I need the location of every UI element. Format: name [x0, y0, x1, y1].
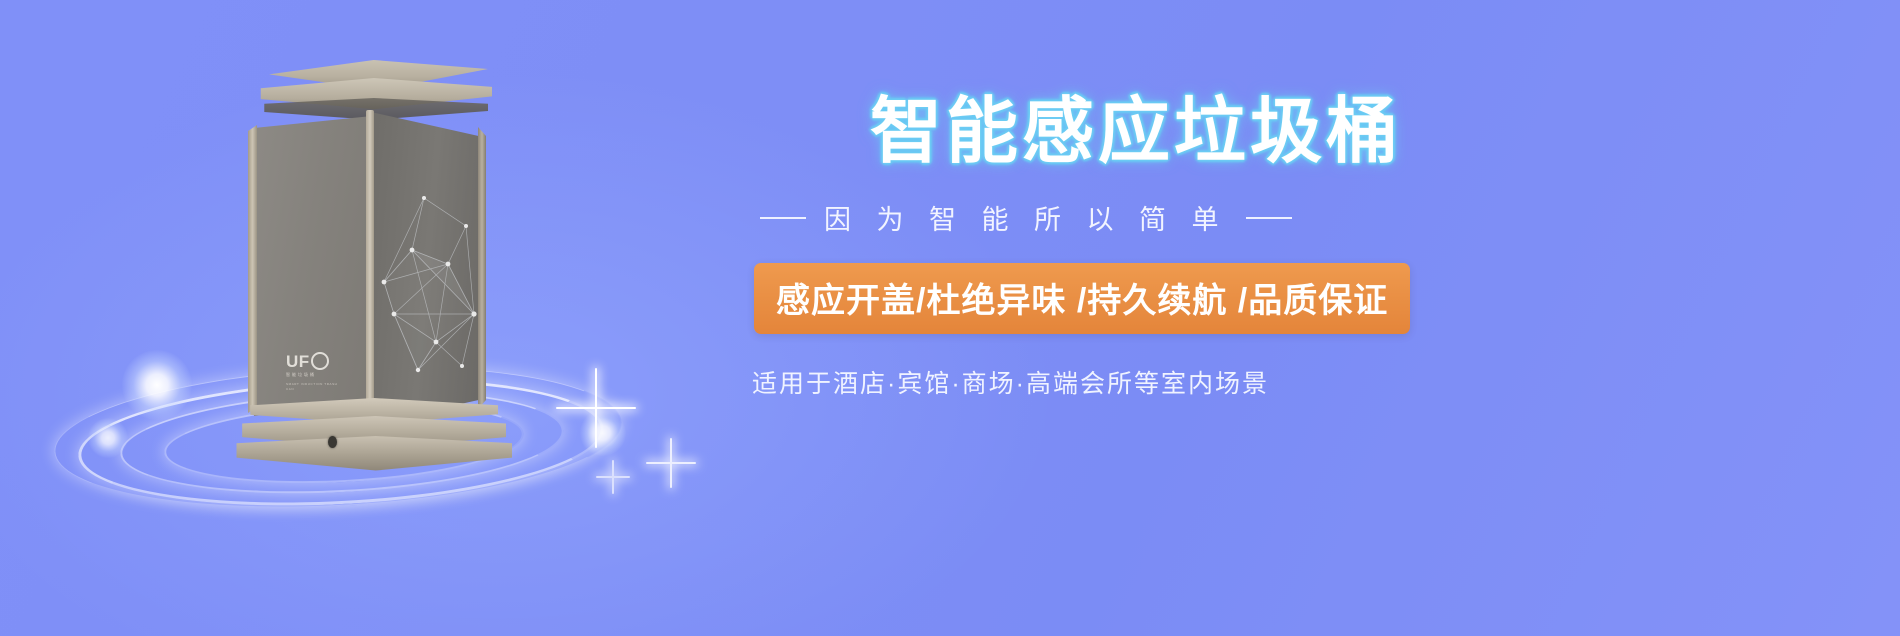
- sensor-icon: [328, 436, 337, 448]
- promo-banner: UF 智能垃圾桶 SMART INDUCTION TRASH CAN 智能感应垃…: [0, 0, 1900, 636]
- sparkle-icon: [596, 460, 630, 494]
- subheadline-text: 因 为 智 能 所 以 简 单: [824, 198, 1228, 237]
- brand-logo-sub: SMART INDUCTION TRASH CAN: [286, 382, 342, 391]
- glow-dot-right: [580, 410, 626, 456]
- brand-logo-cn: 智能垃圾桶: [286, 372, 342, 378]
- headline: 智能感应垃圾桶: [870, 96, 1830, 168]
- sparkle-icon: [646, 438, 696, 488]
- usage-scenarios-text: 适用于酒店·宾馆·商场·高端会所等室内场景: [752, 364, 1830, 400]
- trash-bin-product-image: UF 智能垃圾桶 SMART INDUCTION TRASH CAN: [228, 54, 508, 454]
- polygon-network-graphic: [378, 164, 486, 394]
- brand-logo-letters: UF: [286, 353, 310, 370]
- glow-dot-lower-left: [88, 418, 128, 458]
- glow-dot-left: [122, 350, 192, 420]
- brand-logo-ring-icon: [311, 352, 329, 370]
- bin-edge-left: [248, 116, 257, 416]
- feature-badge: 感应开盖/杜绝异味 /持久续航 /品质保证: [754, 263, 1410, 334]
- subheadline: 因 为 智 能 所 以 简 单: [760, 198, 1830, 237]
- bin-edge-center: [366, 110, 374, 422]
- subheadline-dash-left: [760, 217, 806, 219]
- product-scene: UF 智能垃圾桶 SMART INDUCTION TRASH CAN: [60, 30, 700, 590]
- banner-copy: 智能感应垃圾桶 因 为 智 能 所 以 简 单 感应开盖/杜绝异味 /持久续航 …: [870, 96, 1830, 400]
- brand-logo: UF 智能垃圾桶 SMART INDUCTION TRASH CAN: [286, 352, 342, 391]
- subheadline-dash-right: [1246, 217, 1292, 219]
- brand-logo-mark: UF: [286, 352, 342, 370]
